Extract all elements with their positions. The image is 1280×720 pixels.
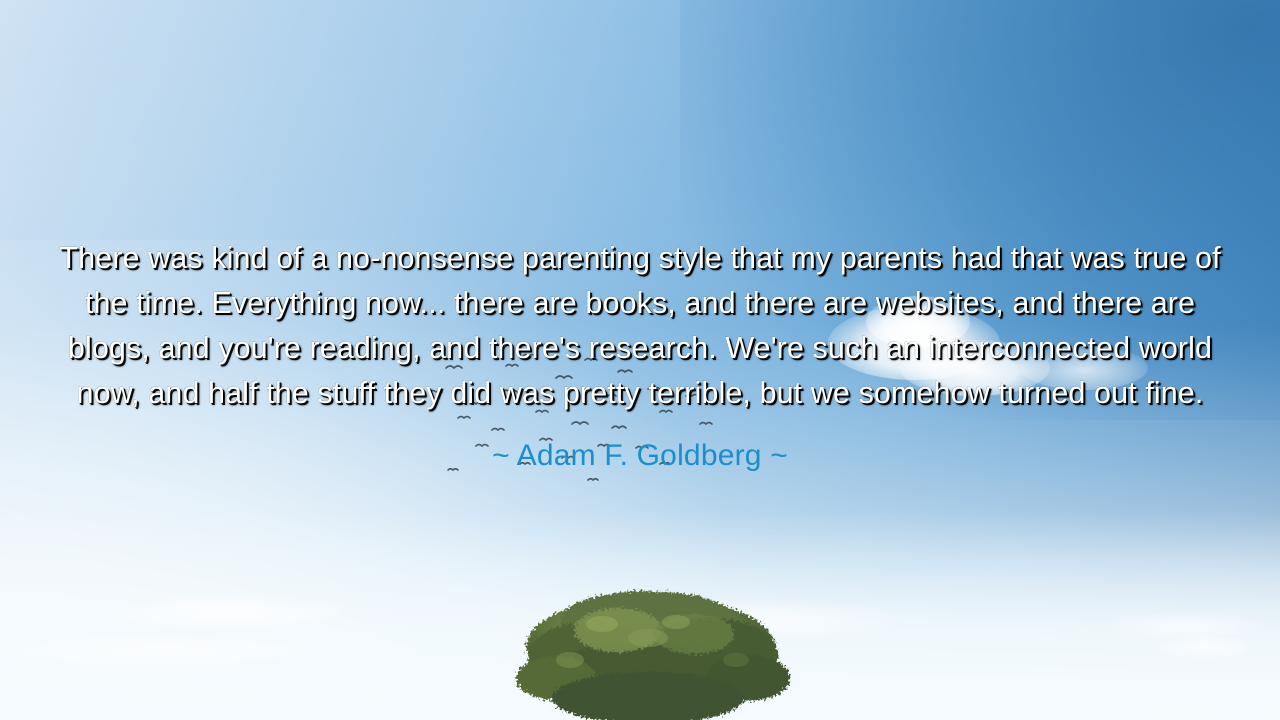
quote-card: There was kind of a no-nonsense parentin…	[0, 0, 1280, 720]
quote-block: There was kind of a no-nonsense parentin…	[0, 236, 1280, 475]
quote-author: ~ Adam F. Goldberg ~	[46, 437, 1234, 475]
quote-text: There was kind of a no-nonsense parentin…	[46, 236, 1234, 416]
sky-horizon-glow	[0, 510, 1280, 720]
